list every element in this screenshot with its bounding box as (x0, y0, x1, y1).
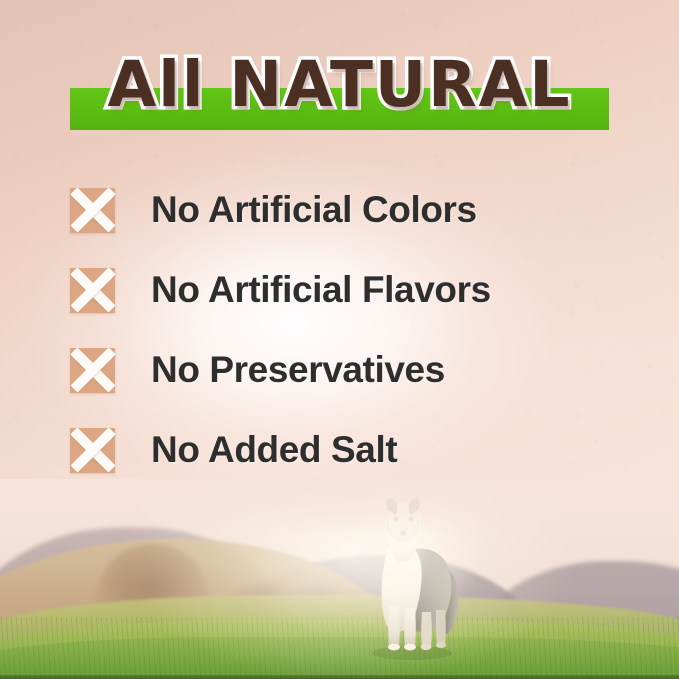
page-title: All NATURAL (0, 48, 679, 122)
list-item: No Added Salt (70, 410, 630, 490)
x-mark-icon (70, 188, 115, 233)
all-natural-product-callout: All NATURAL No Artificial Colors No Arti… (0, 0, 679, 679)
claims-list: No Artificial Colors No Artificial Flavo… (70, 170, 630, 490)
claim-label: No Artificial Flavors (151, 269, 491, 311)
photo-bottom-edge (0, 675, 679, 679)
headline-banner: All NATURAL (0, 48, 679, 132)
claim-label: No Added Salt (151, 429, 397, 471)
claim-label: No Preservatives (151, 349, 445, 391)
x-mark-icon (70, 348, 115, 393)
claim-label: No Artificial Colors (151, 189, 477, 231)
list-item: No Artificial Flavors (70, 250, 630, 330)
landscape-photo (0, 479, 679, 679)
grass-texture (0, 617, 679, 679)
list-item: No Preservatives (70, 330, 630, 410)
list-item: No Artificial Colors (70, 170, 630, 250)
x-mark-icon (70, 268, 115, 313)
x-mark-icon (70, 428, 115, 473)
dog-border-collie (358, 496, 470, 661)
